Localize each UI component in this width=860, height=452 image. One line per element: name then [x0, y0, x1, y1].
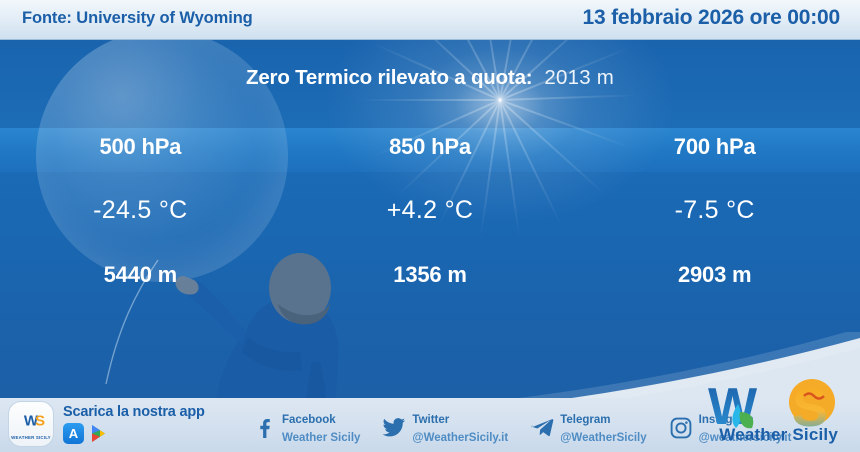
pressure-level-temperature: +4.2 °C — [287, 196, 574, 225]
telegram-icon — [530, 416, 554, 440]
brand-logo: W S Weather Sicily — [700, 378, 850, 450]
social-handle: Weather Sicily — [282, 432, 360, 444]
pressure-level-label: 850 hPa — [287, 134, 574, 160]
pressure-column: 700 hPa -7.5 °C 2903 m — [571, 134, 858, 344]
app-logo-icon: W S WEATHER SICILY — [8, 401, 54, 447]
app-promo-block[interactable]: W S WEATHER SICILY Scarica la nostra app… — [8, 401, 205, 447]
social-name: Facebook — [282, 414, 336, 426]
header-bar: Fonte: University of Wyoming 13 febbraio… — [0, 0, 860, 40]
pressure-column: 500 hPa -24.5 °C 5440 m — [0, 134, 284, 344]
svg-text:S: S — [35, 412, 45, 429]
social-name: Twitter — [412, 414, 449, 426]
freezing-level-line: Zero Termico rilevato a quota:2013 m — [0, 66, 860, 90]
ws-small-mark: W S — [12, 409, 50, 437]
pressure-column: 850 hPa +4.2 °C 1356 m — [287, 134, 574, 344]
freezing-level-value: 2013 m — [544, 66, 614, 89]
pressure-level-label: 700 hPa — [571, 134, 858, 160]
app-promo-label: Scarica la nostra app — [63, 404, 205, 420]
googleplay-badge-icon[interactable] — [89, 423, 109, 444]
appstore-glyph: A — [69, 427, 78, 440]
facebook-icon — [252, 416, 276, 440]
footer-bar: W S WEATHER SICILY Scarica la nostra app… — [0, 398, 860, 452]
app-logo-subtext: WEATHER SICILY — [11, 435, 51, 440]
pressure-level-label: 500 hPa — [0, 134, 284, 160]
pressure-level-altitude: 2903 m — [571, 262, 858, 288]
pressure-level-altitude: 5440 m — [0, 262, 284, 288]
pressure-level-temperature: -7.5 °C — [571, 196, 858, 225]
social-link-facebook[interactable]: Facebook Weather Sicily — [252, 410, 360, 446]
social-handle: @WeatherSicily — [560, 432, 646, 444]
source-label: Fonte: University of Wyoming — [22, 9, 253, 28]
brand-name-label: Weather Sicily — [719, 425, 838, 445]
social-link-telegram[interactable]: Telegram @WeatherSicily — [530, 410, 646, 446]
social-link-twitter[interactable]: Twitter @WeatherSicily.it — [382, 410, 508, 446]
pressure-level-altitude: 1356 m — [287, 262, 574, 288]
weather-card: Fonte: University of Wyoming 13 febbraio… — [0, 0, 860, 452]
twitter-icon — [382, 416, 406, 440]
instagram-icon — [669, 416, 693, 440]
pressure-level-temperature: -24.5 °C — [0, 196, 284, 225]
social-name: Telegram — [560, 414, 610, 426]
social-handle: @WeatherSicily.it — [412, 432, 508, 444]
datetime-label: 13 febbraio 2026 ore 00:00 — [583, 6, 840, 30]
appstore-badge-icon[interactable]: A — [63, 423, 84, 444]
pressure-level-columns: 500 hPa -24.5 °C 5440 m 850 hPa +4.2 °C … — [0, 134, 860, 344]
freezing-level-label: Zero Termico rilevato a quota: — [246, 66, 532, 89]
